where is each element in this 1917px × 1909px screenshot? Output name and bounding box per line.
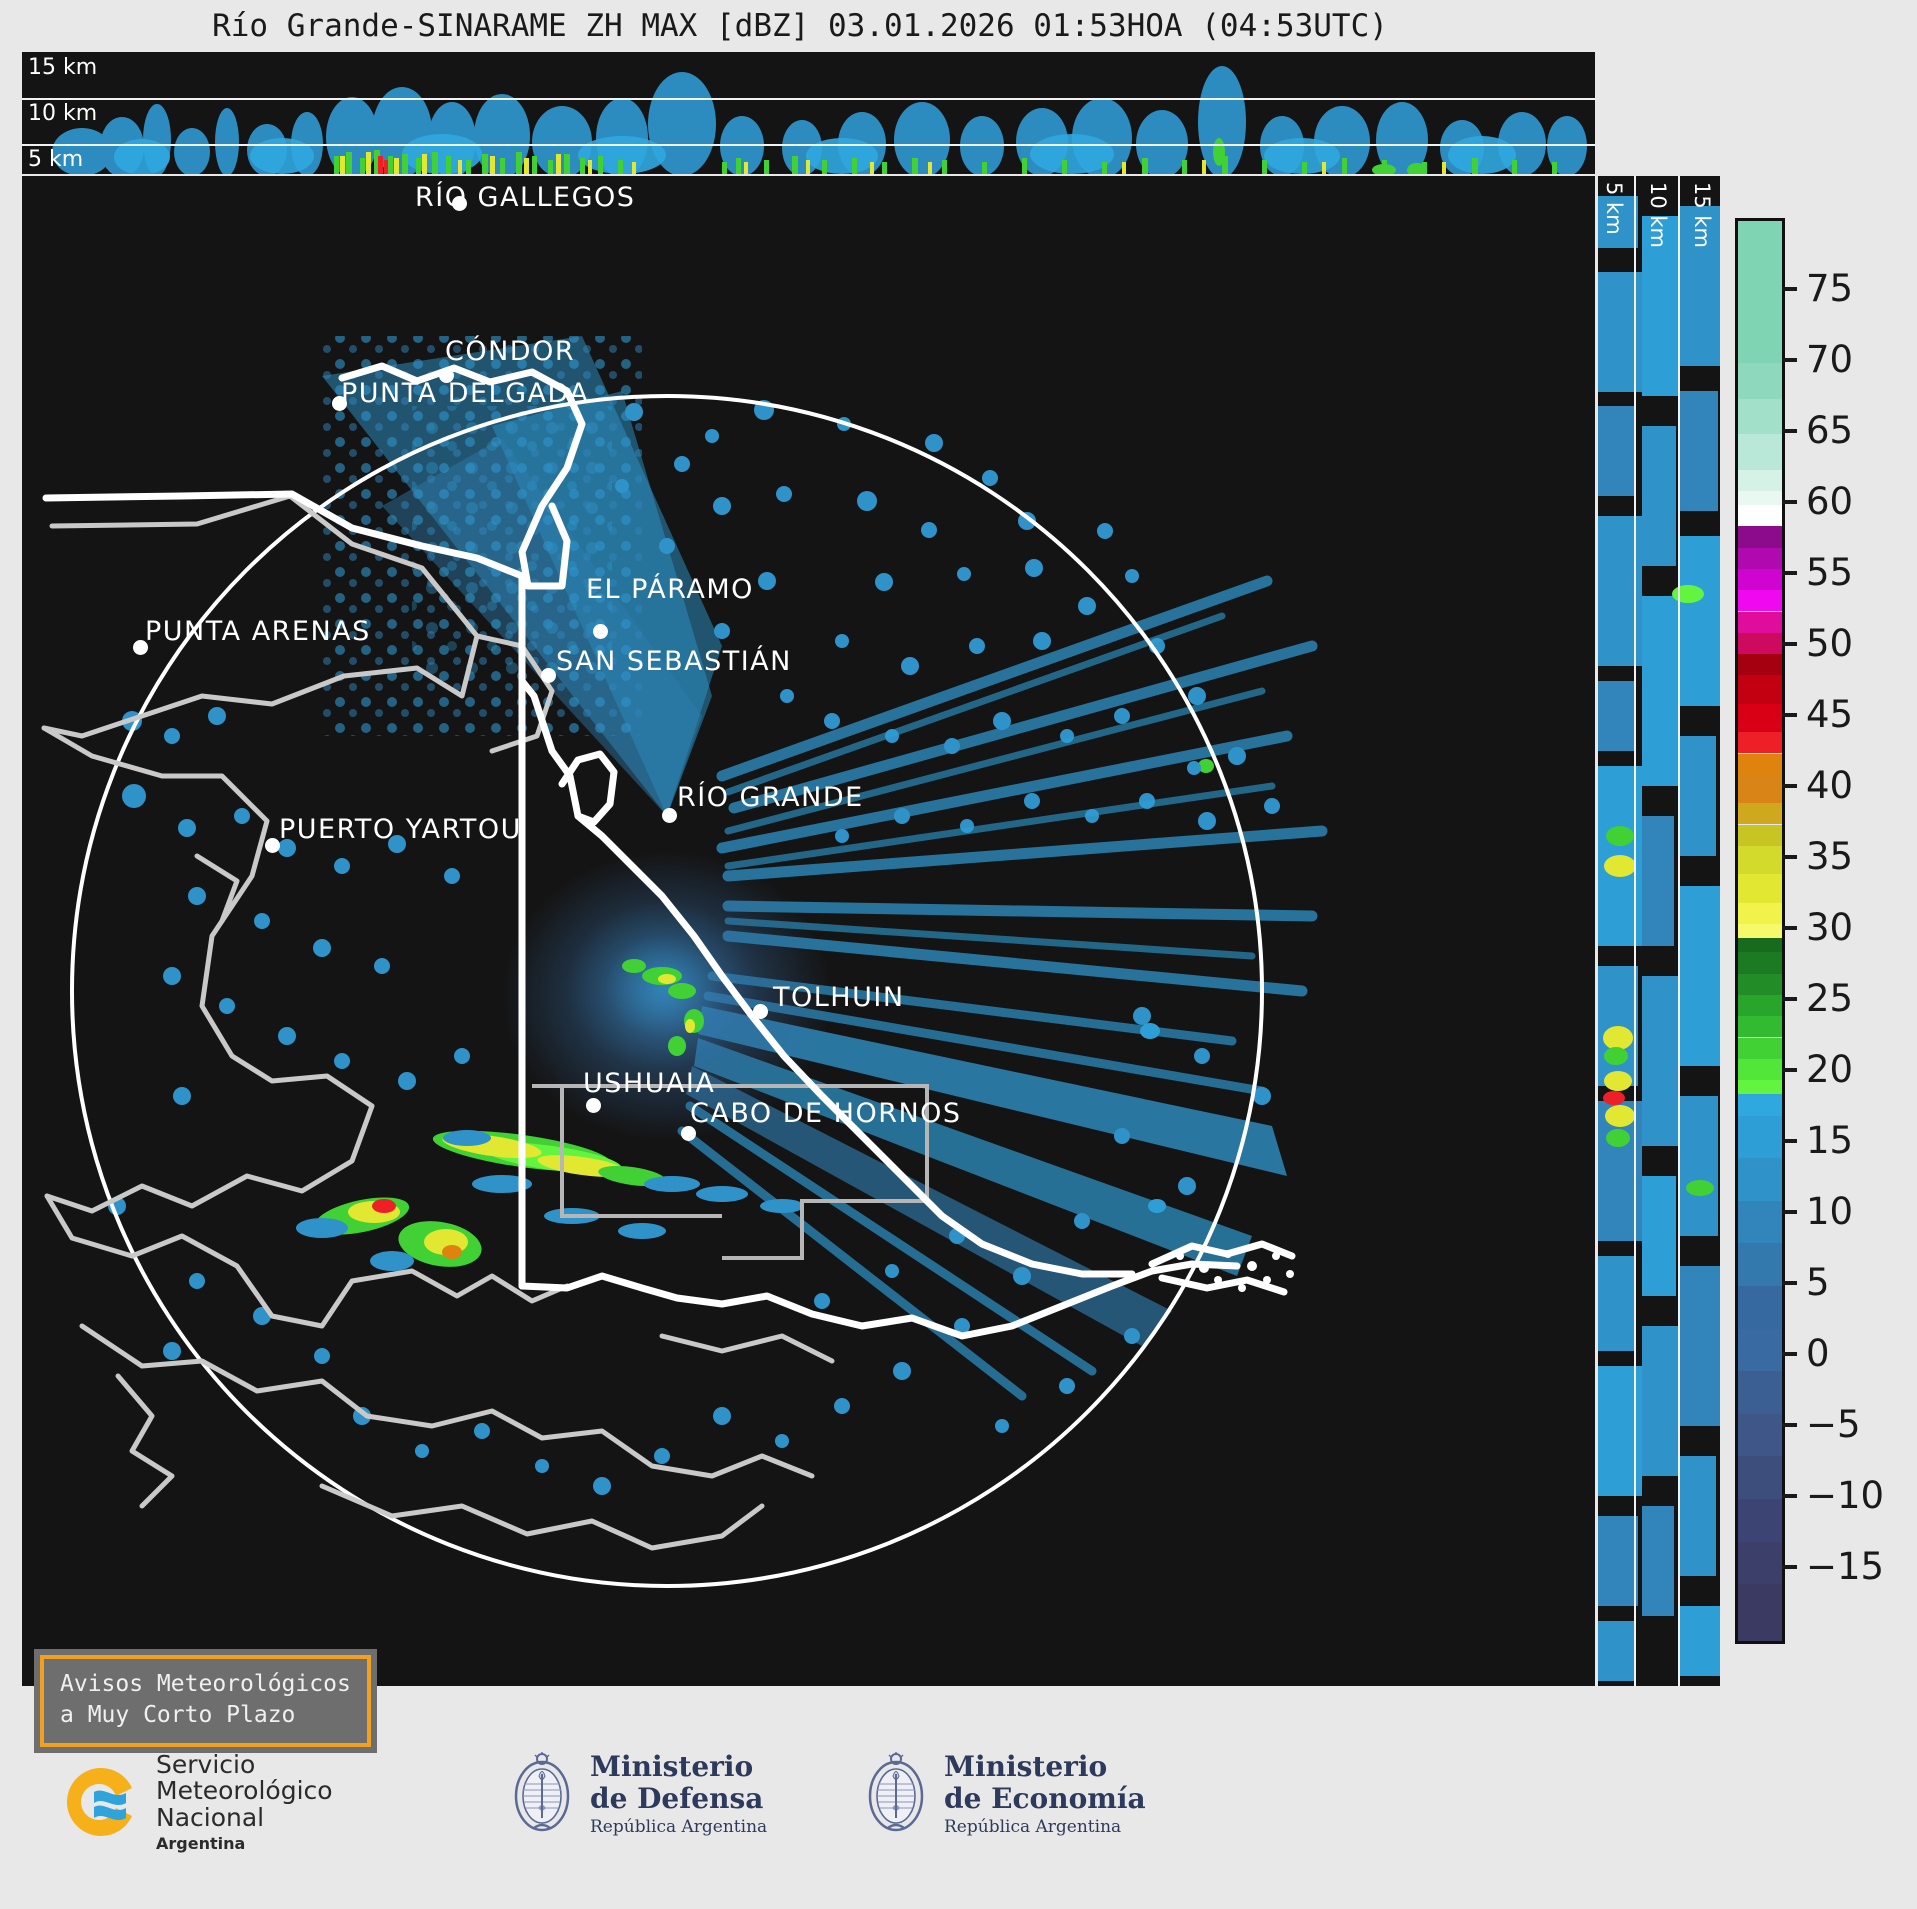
colorbar-segment [1738, 775, 1782, 803]
argentina-coat-of-arms-icon [508, 1750, 576, 1838]
map-dot-puerto-yartou [265, 838, 280, 853]
colorbar-tick-dash [1782, 1352, 1797, 1356]
colorbar-tick-label: 20 [1806, 1048, 1853, 1091]
colorbar-segment [1738, 569, 1782, 590]
argentina-coat-of-arms-icon [862, 1750, 930, 1838]
colorbar-segment [1738, 754, 1782, 775]
colorbar-segment [1738, 825, 1782, 846]
colorbar-segment [1738, 1116, 1782, 1159]
colorbar-segment [1738, 1584, 1782, 1641]
colorbar-segment [1738, 612, 1782, 633]
xsec-right-label-10km: 10 km [1646, 182, 1670, 248]
colorbar-segment [1738, 1456, 1782, 1499]
colorbar-segment [1738, 924, 1782, 938]
colorbar-segment [1738, 221, 1782, 292]
colorbar-tick-label: 45 [1806, 693, 1853, 736]
map-dot-cabo-de-hornos [681, 1126, 696, 1141]
ministerio-economia-text: Ministerio de Economía República Argenti… [944, 1751, 1146, 1837]
economia-line-1: Ministerio [944, 1751, 1146, 1782]
colorbar-tick-label: 25 [1806, 977, 1853, 1020]
colorbar-segment [1738, 434, 1782, 470]
top-cross-section-panel: 15 km 10 km 5 km [22, 52, 1595, 174]
defensa-line-3: República Argentina [590, 1817, 767, 1837]
colorbar-tick-dash [1782, 1565, 1797, 1569]
radar-plan-view-panel[interactable]: RÍO GALLEGOS CÓNDOR PUNTA DELGADA EL PÁR… [22, 176, 1595, 1686]
colorbar-tick-label: 50 [1806, 622, 1853, 665]
smn-line-1: Servicio [156, 1752, 333, 1778]
colorbar-tick-label: 40 [1806, 764, 1853, 807]
xsec-top-label-15km: 15 km [28, 55, 97, 80]
colorbar-segment [1738, 363, 1782, 399]
colorbar-segment [1738, 1371, 1782, 1414]
colorbar-tick-label: 30 [1806, 906, 1853, 949]
colorbar-segment [1738, 292, 1782, 363]
gridline-right-5km [1634, 176, 1636, 1686]
colorbar-segment [1738, 1414, 1782, 1457]
colorbar-tick-label: 15 [1806, 1119, 1853, 1162]
gridline-right-10km [1678, 176, 1680, 1686]
gridline-10km [22, 144, 1595, 146]
colorbar-tick-dash [1782, 1139, 1797, 1143]
colorbar-tick-label: −5 [1806, 1403, 1861, 1446]
xsec-right-label-5km: 5 km [1602, 182, 1626, 235]
colorbar-tick-dash [1782, 642, 1797, 646]
gridline-15km [22, 98, 1595, 100]
colorbar-segment [1738, 470, 1782, 491]
colorbar-tick-dash [1782, 926, 1797, 930]
right-cross-section-echoes [1598, 176, 1720, 1686]
colorbar-tick-dash [1782, 713, 1797, 717]
colorbar-tick-dash [1782, 1281, 1797, 1285]
colorbar-segment [1738, 1542, 1782, 1585]
colorbar-segment [1738, 1059, 1782, 1080]
colorbar-segment [1738, 952, 1782, 973]
colorbar-tick-dash [1782, 1210, 1797, 1214]
defensa-line-1: Ministerio [590, 1751, 767, 1782]
colorbar-segment [1738, 1080, 1782, 1094]
colorbar-segment [1738, 1016, 1782, 1037]
colorbar-segment [1738, 1201, 1782, 1244]
colorbar-segment [1738, 1038, 1782, 1059]
colorbar-segment [1738, 548, 1782, 569]
colorbar-segment [1738, 846, 1782, 874]
map-dot-rio-grande [662, 808, 677, 823]
colorbar-tick-dash [1782, 1494, 1797, 1498]
ministerio-defensa-text: Ministerio de Defensa República Argentin… [590, 1751, 767, 1837]
colorbar-segment [1738, 1286, 1782, 1329]
page-title: Río Grande-SINARAME ZH MAX [dBZ] 03.01.2… [0, 8, 1600, 44]
colorbar-segment [1738, 399, 1782, 435]
map-dot-ushuaia [586, 1098, 601, 1113]
colorbar-segment [1738, 633, 1782, 654]
warning-line-2: a Muy Corto Plazo [60, 1700, 351, 1731]
colorbar-segment [1738, 1158, 1782, 1201]
colorbar[interactable] [1735, 218, 1785, 1644]
colorbar-tick-dash [1782, 500, 1797, 504]
map-dot-rio-gallegos [452, 196, 467, 211]
map-dot-punta-delgada [332, 396, 347, 411]
map-dot-san-sebastian [541, 668, 556, 683]
colorbar-tick-dash [1782, 784, 1797, 788]
logo-ministerio-economia: Ministerio de Economía República Argenti… [862, 1750, 1146, 1838]
warning-line-1: Avisos Meteorológicos [60, 1669, 351, 1700]
colorbar-tick-label: 5 [1806, 1261, 1830, 1304]
colorbar-tick-label: 70 [1806, 338, 1853, 381]
smn-line-3: Nacional [156, 1805, 333, 1831]
colorbar-tick-dash [1782, 358, 1797, 362]
map-dot-punta-arenas [133, 640, 148, 655]
colorbar-segment [1738, 654, 1782, 675]
colorbar-tick-label: 65 [1806, 409, 1853, 452]
colorbar-tick-dash [1782, 855, 1797, 859]
colorbar-segment [1738, 590, 1782, 611]
logo-smn: Servicio Meteorológico Nacional Argentin… [58, 1752, 333, 1853]
map-dot-el-paramo [593, 624, 608, 639]
right-cross-section-panel: 5 km 10 km 15 km [1598, 176, 1720, 1686]
colorbar-tick-label: 60 [1806, 480, 1853, 523]
colorbar-segment [1738, 903, 1782, 924]
colorbar-tick-label: 35 [1806, 835, 1853, 878]
colorbar-segment [1738, 995, 1782, 1016]
colorbar-tick-dash [1782, 429, 1797, 433]
colorbar-segment [1738, 704, 1782, 732]
warning-box[interactable]: Avisos Meteorológicos a Muy Corto Plazo [40, 1655, 371, 1747]
smn-line-4: Argentina [156, 1834, 333, 1853]
colorbar-segment [1738, 874, 1782, 902]
economia-line-3: República Argentina [944, 1817, 1146, 1837]
colorbar-tick-label: −10 [1806, 1474, 1884, 1517]
colorbar-tick-label: 0 [1806, 1332, 1830, 1375]
colorbar-tick-label: 75 [1806, 267, 1853, 310]
colorbar-segment [1738, 526, 1782, 547]
map-dot-tolhuin [753, 1004, 768, 1019]
colorbar-tick-dash [1782, 1068, 1797, 1072]
xsec-top-label-10km: 10 km [28, 101, 97, 126]
economia-line-2: de Economía [944, 1783, 1146, 1814]
colorbar-tick-dash [1782, 997, 1797, 1001]
defensa-line-2: de Defensa [590, 1783, 767, 1814]
logo-ministerio-defensa: Ministerio de Defensa República Argentin… [508, 1750, 767, 1838]
colorbar-segment [1738, 732, 1782, 753]
colorbar-segment [1738, 1243, 1782, 1286]
colorbar-segment [1738, 491, 1782, 505]
colorbar-segment [1738, 1329, 1782, 1372]
colorbar-segment [1738, 675, 1782, 703]
colorbar-tick-dash [1782, 1423, 1797, 1427]
smn-line-2: Meteorológico [156, 1778, 333, 1804]
top-cross-section-echoes [22, 52, 1595, 174]
colorbar-segment [1738, 505, 1782, 526]
colorbar-tick-label: 55 [1806, 551, 1853, 594]
colorbar-segment [1738, 974, 1782, 995]
radar-map-svg [22, 176, 1595, 1686]
smn-logo-icon [58, 1762, 144, 1842]
colorbar-ticks: 757065605550454035302520151050−5−10−15 [1782, 218, 1912, 1638]
colorbar-segment [1738, 1499, 1782, 1542]
smn-logo-text: Servicio Meteorológico Nacional Argentin… [156, 1752, 333, 1853]
colorbar-tick-dash [1782, 571, 1797, 575]
colorbar-segment [1738, 938, 1782, 952]
colorbar-tick-dash [1782, 287, 1797, 291]
colorbar-tick-label: 10 [1806, 1190, 1853, 1233]
colorbar-tick-label: −15 [1806, 1545, 1884, 1588]
map-dot-condor [439, 368, 454, 383]
colorbar-segment [1738, 803, 1782, 824]
colorbar-segment [1738, 1094, 1782, 1115]
xsec-right-label-15km: 15 km [1690, 182, 1714, 248]
xsec-top-label-5km: 5 km [28, 147, 83, 172]
